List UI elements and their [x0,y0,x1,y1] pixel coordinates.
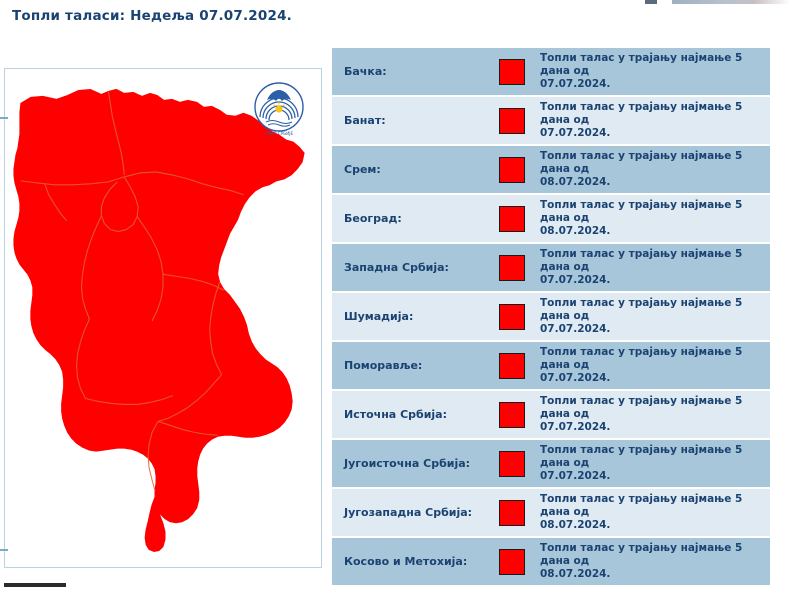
region-label: Поморавље: [332,359,484,372]
red-severity-icon [499,402,525,428]
region-label: Западна Србија: [332,261,484,274]
alert-description: Топли талас у трајању најмање 5 дана од0… [540,297,770,336]
alert-description-date: 07.07.2024. [540,372,762,385]
alert-description-line1: Топли талас у трајању најмање 5 дана од [540,395,742,420]
red-severity-icon [499,304,525,330]
left-edge-tick-upper [0,117,8,119]
severity-swatch-cell [484,206,540,232]
alert-description-line1: Топли талас у трајању најмање 5 дана од [540,542,742,567]
alert-description-date: 08.07.2024. [540,519,762,532]
rhmz-logo: РХМЗ СРБИЈЕ [253,81,305,139]
logo-text: РХМЗ СРБИЈЕ [265,131,294,136]
left-edge-tick-lower [0,549,8,551]
chrome-fragment-left [645,0,657,4]
alert-description-line1: Топли талас у трајању најмање 5 дана од [540,493,742,518]
alert-description: Топли талас у трајању најмање 5 дана од0… [540,52,770,91]
red-severity-icon [499,255,525,281]
alert-description: Топли талас у трајању најмање 5 дана од0… [540,199,770,238]
alert-row[interactable]: Банат:Топли талас у трајању најмање 5 да… [332,97,770,144]
page-title: Топли таласи: Недеља 07.07.2024. [12,8,292,24]
alert-row[interactable]: Југозападна Србија:Топли талас у трајању… [332,489,770,536]
alert-description-line1: Топли талас у трајању најмање 5 дана од [540,150,742,175]
alert-description-date: 07.07.2024. [540,470,762,483]
alert-description-line1: Топли талас у трајању најмање 5 дана од [540,101,742,126]
severity-swatch-cell [484,59,540,85]
red-severity-icon [499,500,525,526]
red-severity-icon [499,549,525,575]
severity-swatch-cell [484,402,540,428]
alert-description-line1: Топли талас у трајању најмање 5 дана од [540,346,742,371]
alert-row[interactable]: Срем:Топли талас у трајању најмање 5 дан… [332,146,770,193]
alert-description-date: 07.07.2024. [540,421,762,434]
chrome-fragment-right [672,0,790,4]
alert-description: Топли талас у трајању најмање 5 дана од0… [540,346,770,385]
alert-description: Топли талас у трајању најмање 5 дана од0… [540,101,770,140]
region-label: Југозападна Србија: [332,506,484,519]
region-label: Бачка: [332,65,484,78]
alert-row[interactable]: Бачка:Топли талас у трајању најмање 5 да… [332,48,770,95]
region-label: Шумадија: [332,310,484,323]
alert-description: Топли талас у трајању најмање 5 дана од0… [540,444,770,483]
red-severity-icon [499,157,525,183]
red-severity-icon [499,59,525,85]
bottom-edge-stub [4,583,66,587]
alert-description: Топли талас у трајању најмање 5 дана од0… [540,542,770,581]
alert-row[interactable]: Југоисточна Србија:Топли талас у трајању… [332,440,770,487]
serbia-map-svg [5,69,321,567]
severity-swatch-cell [484,353,540,379]
alert-description: Топли талас у трајању најмање 5 дана од0… [540,150,770,189]
severity-swatch-cell [484,304,540,330]
alert-description-line1: Топли талас у трајању најмање 5 дана од [540,52,742,77]
alert-description-line1: Топли талас у трајању најмање 5 дана од [540,444,742,469]
map-of-serbia [5,69,321,567]
alert-description-line1: Топли талас у трајању најмање 5 дана од [540,199,742,224]
alert-description: Топли талас у трајању најмање 5 дана од0… [540,248,770,287]
alert-row[interactable]: Београд:Топли талас у трајању најмање 5 … [332,195,770,242]
alert-description-date: 07.07.2024. [540,78,762,91]
alert-description-line1: Топли талас у трајању најмање 5 дана од [540,248,742,273]
region-label: Косово и Метохија: [332,555,484,568]
rhmz-logo-svg: РХМЗ СРБИЈЕ [253,81,305,139]
alert-row[interactable]: Источна Србија:Топли талас у трајању нај… [332,391,770,438]
region-label: Источна Србија: [332,408,484,421]
alert-description: Топли талас у трајању најмање 5 дана од0… [540,493,770,532]
alert-description-date: 08.07.2024. [540,176,762,189]
alert-description-line1: Топли талас у трајању најмање 5 дана од [540,297,742,322]
severity-swatch-cell [484,108,540,134]
heat-wave-alert-table: Бачка:Топли талас у трајању најмање 5 да… [332,48,770,587]
alert-description-date: 08.07.2024. [540,568,762,581]
region-label: Београд: [332,212,484,225]
serbia-landmass [14,89,304,551]
map-panel: РХМЗ СРБИЈЕ [4,68,322,568]
alert-description-date: 07.07.2024. [540,127,762,140]
severity-swatch-cell [484,500,540,526]
red-severity-icon [499,353,525,379]
alert-row[interactable]: Шумадија:Топли талас у трајању најмање 5… [332,293,770,340]
alert-row[interactable]: Поморавље:Топли талас у трајању најмање … [332,342,770,389]
severity-swatch-cell [484,549,540,575]
alert-description-date: 08.07.2024. [540,225,762,238]
region-label: Срем: [332,163,484,176]
alert-description: Топли талас у трајању најмање 5 дана од0… [540,395,770,434]
region-label: Банат: [332,114,484,127]
red-severity-icon [499,451,525,477]
red-severity-icon [499,108,525,134]
region-label: Југоисточна Србија: [332,457,484,470]
logo-sun [275,105,282,112]
alert-row[interactable]: Косово и Метохија:Топли талас у трајању … [332,538,770,585]
alert-row[interactable]: Западна Србија:Топли талас у трајању нај… [332,244,770,291]
alert-description-date: 07.07.2024. [540,274,762,287]
severity-swatch-cell [484,451,540,477]
window-chrome-strip [0,0,790,6]
severity-swatch-cell [484,157,540,183]
severity-swatch-cell [484,255,540,281]
alert-description-date: 07.07.2024. [540,323,762,336]
red-severity-icon [499,206,525,232]
